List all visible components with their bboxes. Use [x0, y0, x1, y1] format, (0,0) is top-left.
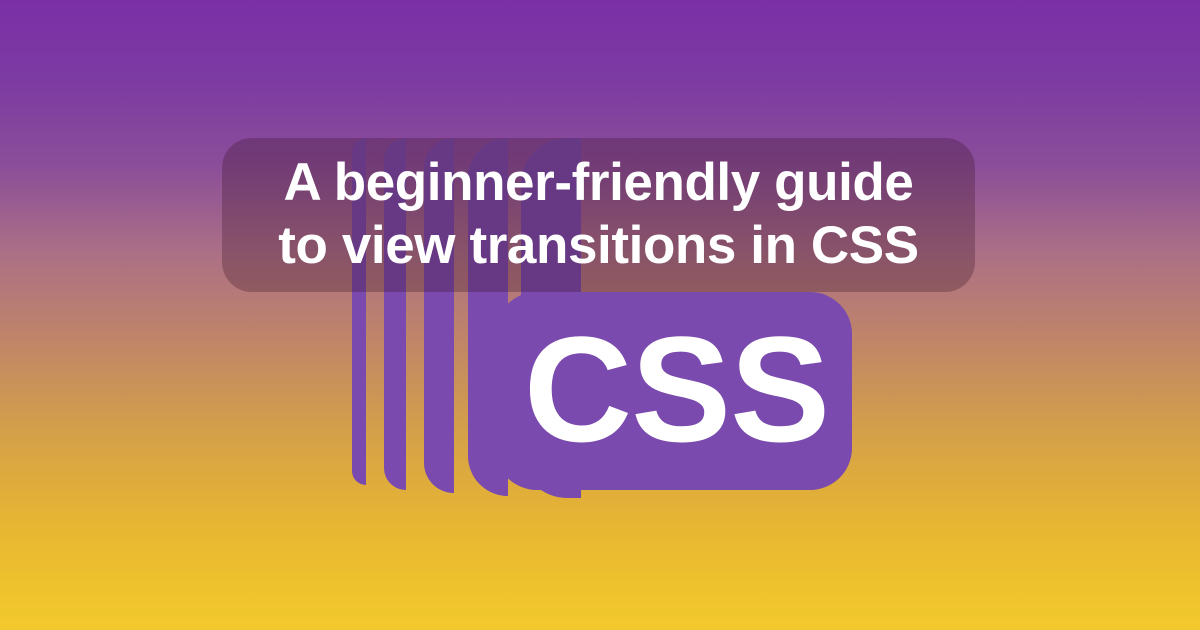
- og-image-card: CSS A beginner-friendly guide to view tr…: [0, 0, 1200, 630]
- css-logo-label: CSS: [524, 314, 829, 464]
- article-title-line-2: to view transitions in CSS: [278, 215, 918, 278]
- article-title-line-1: A beginner-friendly guide: [284, 152, 914, 215]
- css-logo-card: CSS: [495, 292, 852, 490]
- article-title-banner: A beginner-friendly guide to view transi…: [222, 138, 975, 292]
